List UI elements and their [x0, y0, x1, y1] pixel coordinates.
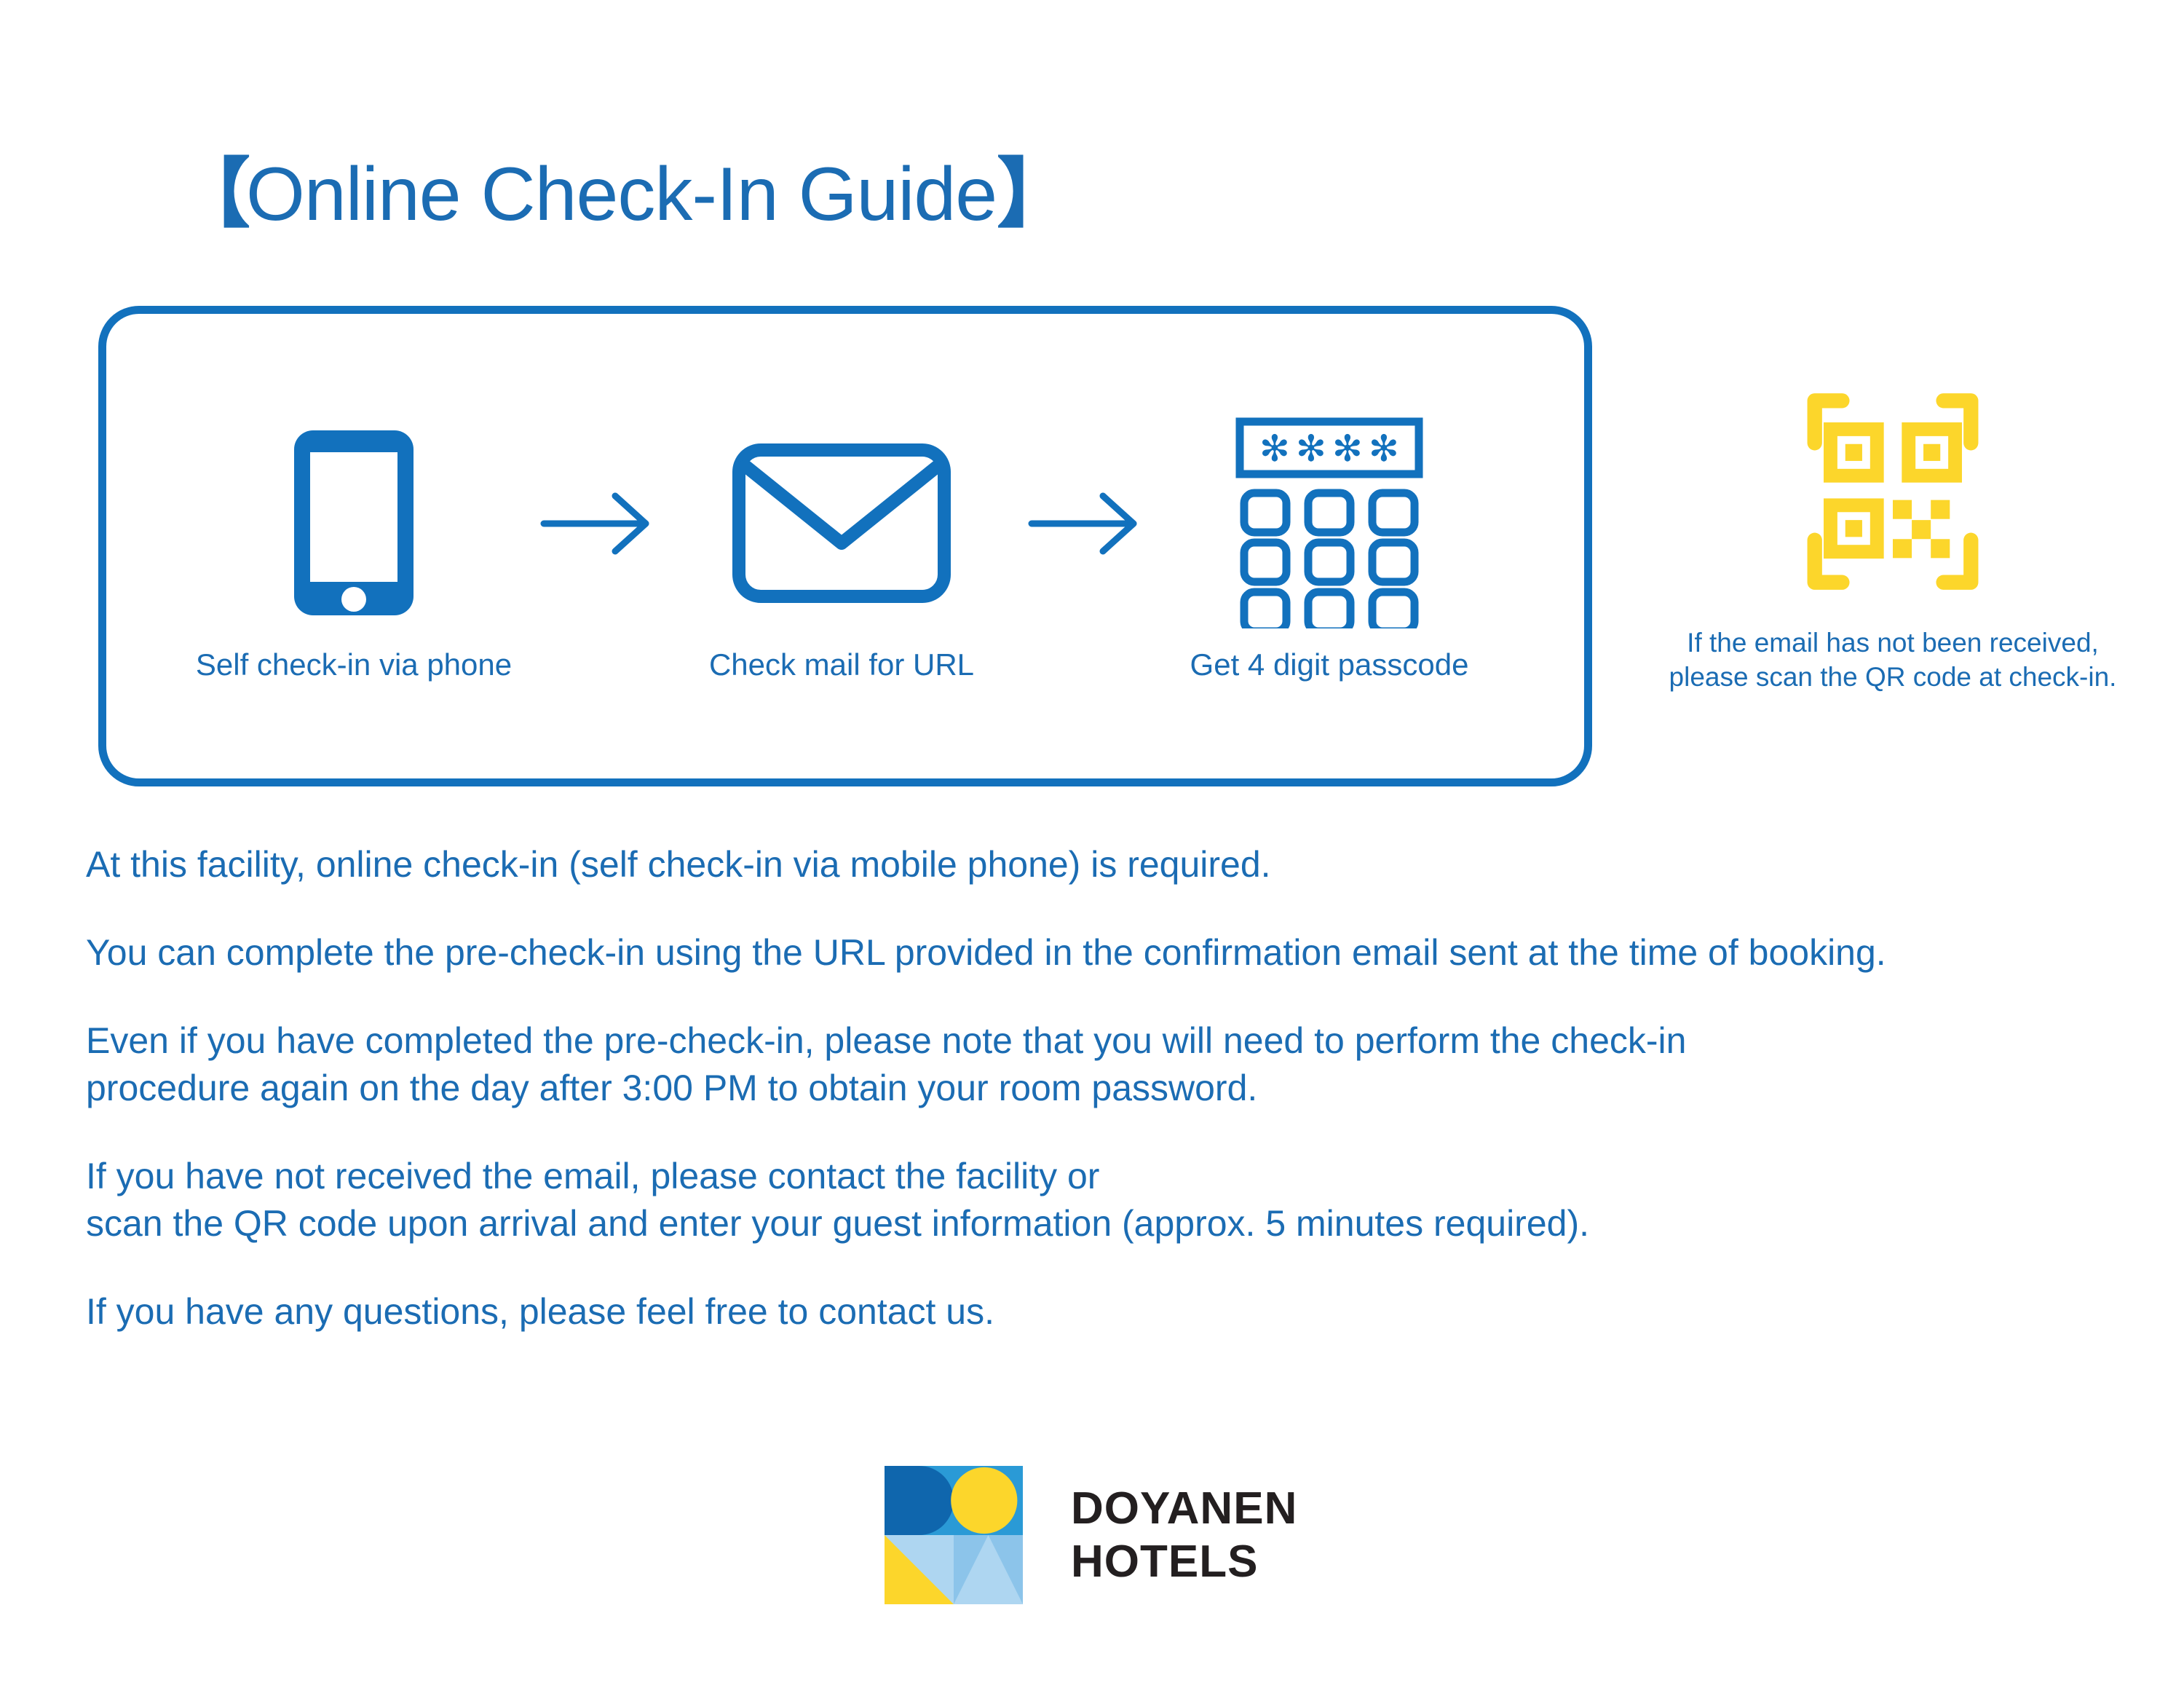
smartphone-icon — [288, 410, 419, 636]
step-self-checkin: Self check-in via phone — [179, 410, 529, 682]
keypad-mask-char: ✻ — [1296, 427, 1326, 470]
body-copy: At this facility, online check-in (self … — [86, 841, 2117, 1336]
footer-brand: DOYANEN HOTELS — [885, 1466, 1297, 1604]
envelope-icon — [732, 410, 951, 636]
step-label: Get 4 digit passcode — [1190, 647, 1469, 682]
page-title-text: Online Check-In Guide — [246, 152, 997, 237]
body-paragraph: Even if you have completed the pre-check… — [86, 1017, 2117, 1112]
body-paragraph: If you have any questions, please feel f… — [86, 1288, 2117, 1336]
arrow-right-icon — [529, 490, 667, 557]
keypad-mask-char: ✻ — [1259, 427, 1290, 470]
step-check-mail: Check mail for URL — [667, 410, 1016, 682]
step-label: Check mail for URL — [709, 647, 974, 682]
brand-line-2: HOTELS — [1071, 1535, 1297, 1588]
title-bracket-open-icon: 【 — [175, 152, 246, 237]
brand-line-1: DOYANEN — [1071, 1482, 1297, 1535]
qr-code-icon — [1787, 386, 1998, 601]
keypad-icon: ✻ ✻ ✻ ✻ — [1234, 410, 1425, 636]
step-get-passcode: ✻ ✻ ✻ ✻ — [1155, 410, 1504, 682]
doyanen-logo-mark — [885, 1466, 1023, 1604]
page-title: 【Online Check-In Guide】 — [175, 157, 1068, 232]
keypad-mask-char: ✻ — [1332, 427, 1363, 470]
title-bracket-close-icon: 】 — [997, 152, 1068, 237]
body-paragraph: If you have not received the email, plea… — [86, 1153, 2117, 1247]
qr-panel: If the email has not been received, plea… — [1631, 386, 2155, 695]
steps-row: Self check-in via phone Check mail for U… — [98, 306, 1592, 786]
brand-wordmark: DOYANEN HOTELS — [1071, 1482, 1297, 1588]
step-label: Self check-in via phone — [196, 647, 512, 682]
body-paragraph: At this facility, online check-in (self … — [86, 841, 2117, 888]
body-paragraph: You can complete the pre-check-in using … — [86, 929, 2117, 977]
qr-caption: If the email has not been received, plea… — [1669, 626, 2117, 695]
online-checkin-guide-page: 【Online Check-In Guide】 Self check-in vi… — [0, 0, 2184, 1688]
arrow-right-icon — [1016, 490, 1155, 557]
keypad-mask-char: ✻ — [1369, 427, 1399, 470]
